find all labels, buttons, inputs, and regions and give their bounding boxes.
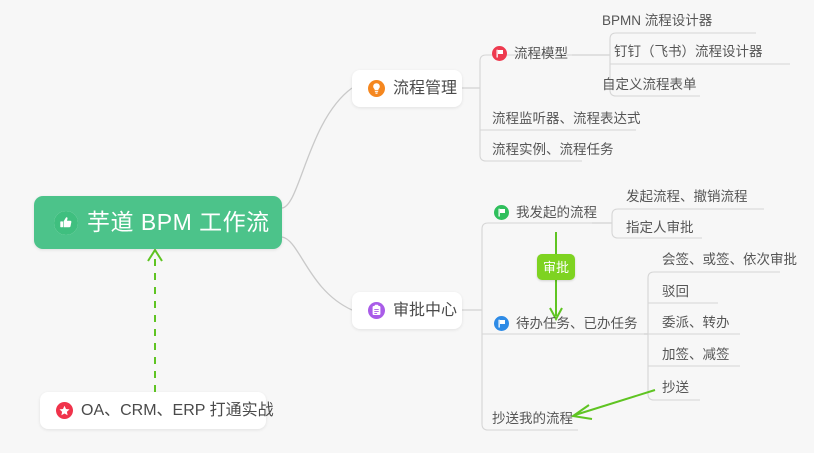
annotation-integration-note[interactable]: OA、CRM、ERP 打通实战 [40,392,266,429]
node-label: 指定人审批 [626,221,694,235]
node-label: 会签、或签、依次审批 [662,253,797,267]
node-cc[interactable]: 抄送 [662,381,689,395]
annotation-label: 审批 [543,261,569,274]
mindmap-canvas: 芋道 BPM 工作流 流程管理 流程模型 BPMN 流程设计器 钉钉（飞书）流程… [0,0,814,453]
node-my-initiated[interactable]: 我发起的流程 [494,205,597,220]
arrow-cc-to-my-process [575,390,655,415]
node-add-remove-sign[interactable]: 加签、减签 [662,348,730,362]
node-label: 钉钉（飞书）流程设计器 [614,45,763,59]
node-todo-done[interactable]: 待办任务、已办任务 [494,316,638,331]
node-cc-to-me[interactable]: 抄送我的流程 [492,412,573,426]
node-label: 发起流程、撤销流程 [626,190,748,204]
node-label: 抄送我的流程 [492,412,573,426]
node-label: 流程监听器、流程表达式 [492,112,641,126]
node-label: 待办任务、已办任务 [516,317,638,331]
edge-root-to-approval-center [282,237,352,310]
node-label: 委派、转办 [662,316,730,330]
node-label: 驳回 [662,285,689,299]
node-listener-expression[interactable]: 流程监听器、流程表达式 [492,112,641,126]
node-instance-task[interactable]: 流程实例、流程任务 [492,143,614,157]
star-icon [56,402,73,419]
node-label: 流程实例、流程任务 [492,143,614,157]
node-process-model[interactable]: 流程模型 [492,46,568,61]
edge-root-to-process-management [282,88,352,208]
node-assignee-approval[interactable]: 指定人审批 [626,221,694,235]
flag-icon [494,316,509,331]
annotation-label: OA、CRM、ERP 打通实战 [81,403,274,419]
branch-approval-center[interactable]: 审批中心 [352,292,462,329]
node-label: 抄送 [662,381,689,395]
node-start-cancel[interactable]: 发起流程、撤销流程 [626,190,748,204]
flag-icon [494,205,509,220]
flag-icon [492,46,507,61]
node-label: 自定义流程表单 [602,78,697,92]
annotation-approval-tag[interactable]: 审批 [537,254,575,280]
root-node[interactable]: 芋道 BPM 工作流 [34,196,282,249]
node-label: 我发起的流程 [516,206,597,220]
branch-process-management[interactable]: 流程管理 [352,70,462,107]
node-reject[interactable]: 驳回 [662,285,689,299]
thumbs-up-icon [54,211,78,235]
node-dingtalk-feishu-designer[interactable]: 钉钉（飞书）流程设计器 [614,45,763,59]
node-custom-process-form[interactable]: 自定义流程表单 [602,78,697,92]
branch-label: 流程管理 [393,81,457,97]
node-countersign[interactable]: 会签、或签、依次审批 [662,253,797,267]
arrow-integration-note-head [148,250,162,261]
branch-label: 审批中心 [393,303,457,319]
node-label: 加签、减签 [662,348,730,362]
clipboard-icon [368,302,385,319]
arrow-cc-head [573,405,592,419]
lightbulb-icon [368,80,385,97]
node-label: 流程模型 [514,47,568,61]
node-bpmn-designer[interactable]: BPMN 流程设计器 [602,14,712,28]
root-label: 芋道 BPM 工作流 [87,211,270,234]
node-label: BPMN 流程设计器 [602,14,712,28]
node-delegate-transfer[interactable]: 委派、转办 [662,316,730,330]
